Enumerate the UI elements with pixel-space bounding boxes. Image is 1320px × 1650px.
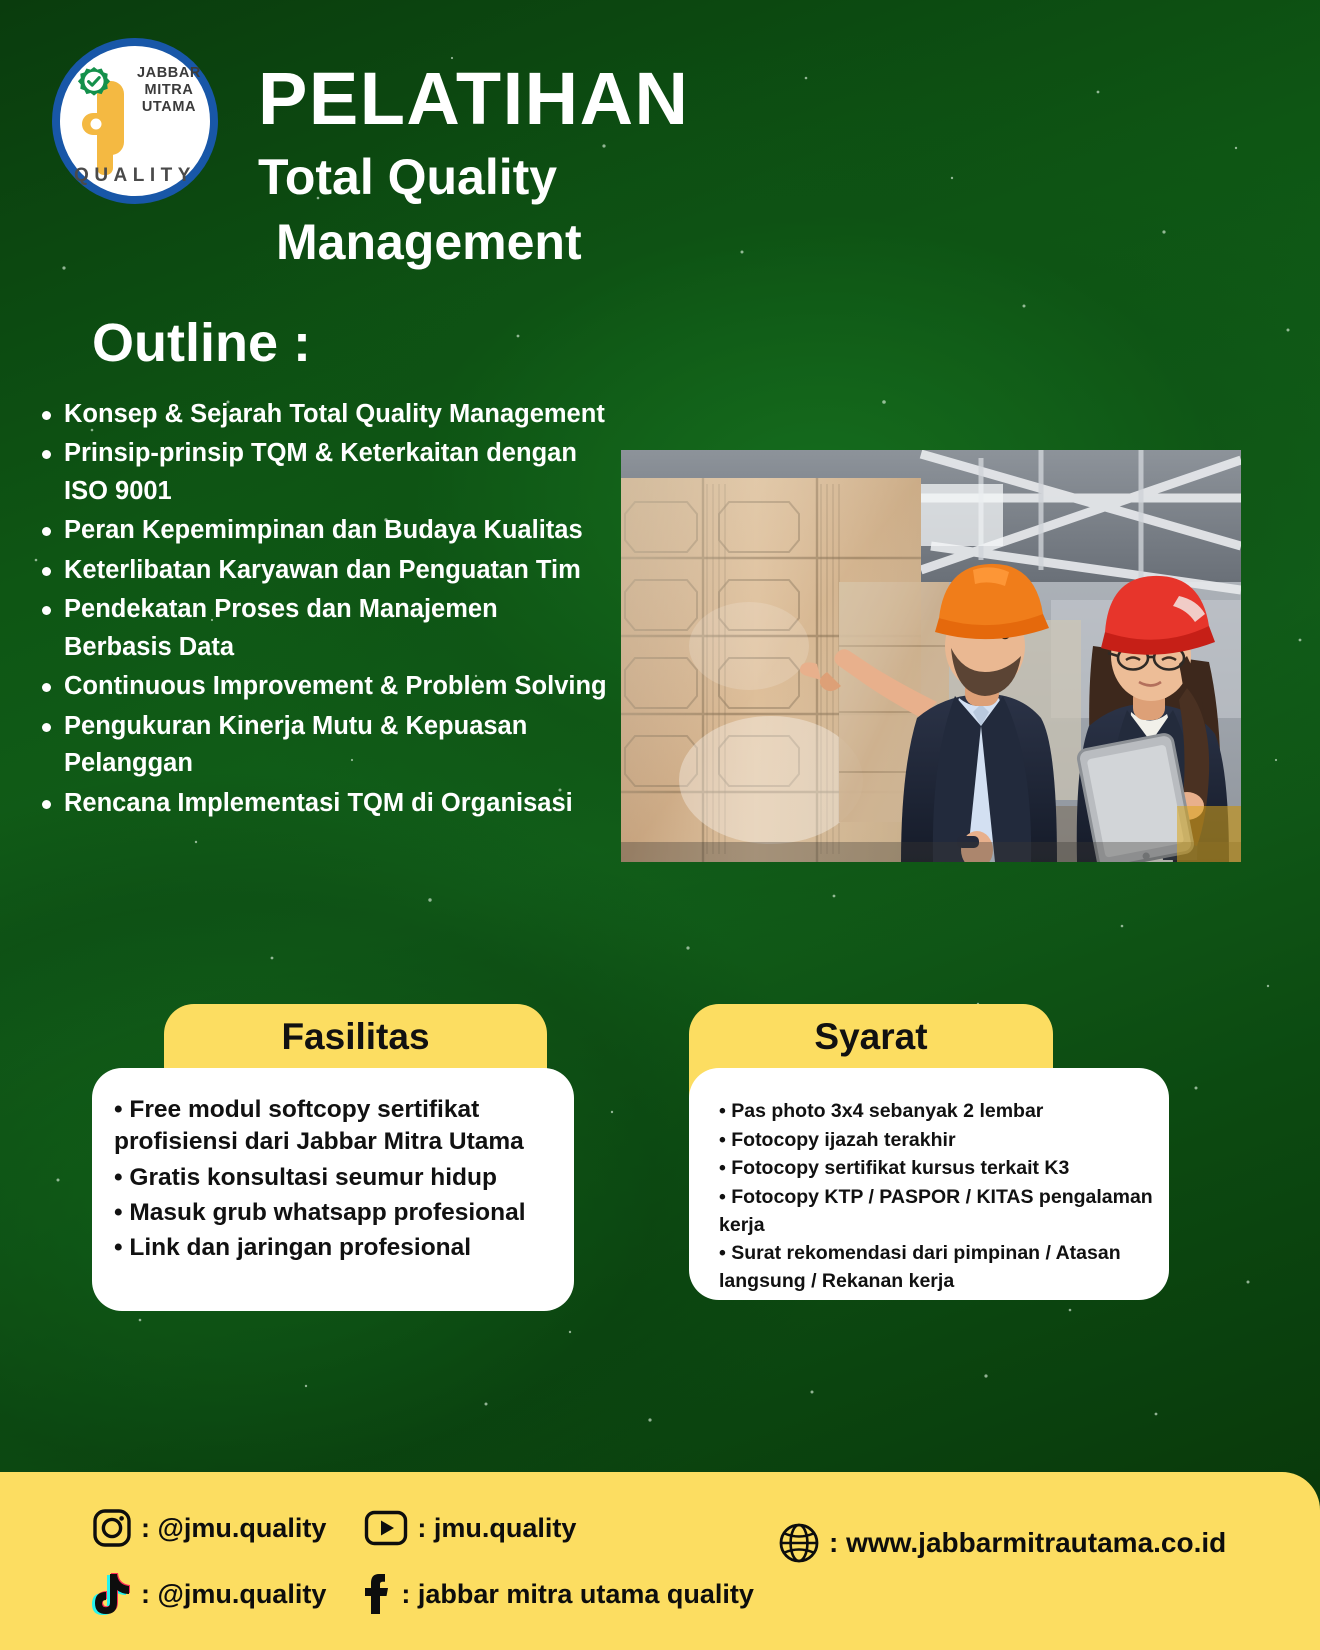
list-item: Pendekatan Proses dan Manajemen Berbasis… [34,591,610,666]
footer-row-social-2: : @jmu.quality : jabbar mitra utama qual… [92,1572,754,1616]
logo-word-2: MITRA [135,82,203,99]
list-item: Continuous Improvement & Problem Solving [34,668,610,705]
fasilitas-card-body: • Free modul softcopy sertifikat profisi… [92,1068,574,1311]
globe-icon [778,1522,820,1564]
footer-row-website: : www.jabbarmitrautama.co.id [778,1522,1226,1564]
list-item: Konsep & Sejarah Total Quality Managemen… [34,396,610,433]
list-item: • Fotocopy KTP / PASPOR / KITAS pengalam… [719,1184,1155,1239]
list-item: • Gratis konsultasi seumur hidup [114,1162,554,1194]
logo-quality-text: QUALITY [65,165,205,187]
tiktok-handle: : @jmu.quality [141,1579,326,1610]
youtube-handle: : jmu.quality [417,1513,576,1544]
facebook-contact[interactable]: : jabbar mitra utama quality [360,1572,754,1616]
company-logo-badge: JABBAR MITRA UTAMA QUALITY [52,38,218,204]
list-item: Pengukuran Kinerja Mutu & Kepuasan Pelan… [34,708,610,783]
list-item: Rencana Implementasi TQM di Organisasi [34,785,610,822]
contact-footer-bar: : @jmu.quality : jmu.quality [0,1472,1320,1650]
list-item: Keterlibatan Karyawan dan Penguatan Tim [34,552,610,589]
tiktok-icon [92,1572,132,1616]
list-item: Prinsip-prinsip TQM & Keterkaitan dengan… [34,435,610,510]
logo-word-3: UTAMA [135,99,203,116]
facebook-icon [360,1572,392,1616]
title-management: Management [276,212,958,272]
instagram-icon [92,1508,132,1548]
fasilitas-card: Fasilitas • Free modul softcopy sertifik… [92,1004,574,1311]
list-item: • Fotocopy ijazah terakhir [719,1127,1155,1155]
logo-word-1: JABBAR [135,65,203,82]
title-pelatihan: PELATIHAN [258,62,958,136]
syarat-list: • Pas photo 3x4 sebanyak 2 lembar • Foto… [719,1098,1155,1296]
logo-company-words: JABBAR MITRA UTAMA [135,65,203,116]
outline-list: Konsep & Sejarah Total Quality Managemen… [34,396,610,824]
list-item: • Fotocopy sertifikat kursus terkait K3 [719,1155,1155,1183]
youtube-contact[interactable]: : jmu.quality [364,1510,576,1546]
instagram-handle: : @jmu.quality [141,1513,326,1544]
fasilitas-list: • Free modul softcopy sertifikat profisi… [114,1094,554,1265]
outline-heading: Outline : [92,312,311,374]
website-url: : www.jabbarmitrautama.co.id [829,1527,1226,1559]
warehouse-photo [621,450,1241,862]
youtube-icon [364,1510,408,1546]
title-total-quality: Total Quality [258,144,958,212]
fasilitas-card-title: Fasilitas [281,1016,429,1058]
syarat-card: Syarat • Pas photo 3x4 sebanyak 2 lembar… [689,1004,1169,1300]
instagram-contact[interactable]: : @jmu.quality [92,1508,326,1548]
footer-row-social-1: : @jmu.quality : jmu.quality [92,1508,576,1548]
list-item: • Surat rekomendasi dari pimpinan / Atas… [719,1240,1155,1295]
website-contact[interactable]: : www.jabbarmitrautama.co.id [778,1522,1226,1564]
syarat-card-title: Syarat [814,1016,927,1058]
list-item: • Free modul softcopy sertifikat profisi… [114,1094,554,1159]
list-item: • Pas photo 3x4 sebanyak 2 lembar [719,1098,1155,1126]
facebook-handle: : jabbar mitra utama quality [401,1579,754,1610]
list-item: • Masuk grub whatsapp profesional [114,1197,554,1229]
poster-canvas: JABBAR MITRA UTAMA QUALITY PELATIHAN Tot… [0,0,1320,1650]
page-title: PELATIHAN Total Quality Management [258,62,958,272]
syarat-card-body: • Pas photo 3x4 sebanyak 2 lembar • Foto… [689,1068,1169,1300]
tiktok-contact[interactable]: : @jmu.quality [92,1572,326,1616]
list-item: • Link dan jaringan profesional [114,1232,554,1264]
list-item: Peran Kepemimpinan dan Budaya Kualitas [34,512,610,549]
